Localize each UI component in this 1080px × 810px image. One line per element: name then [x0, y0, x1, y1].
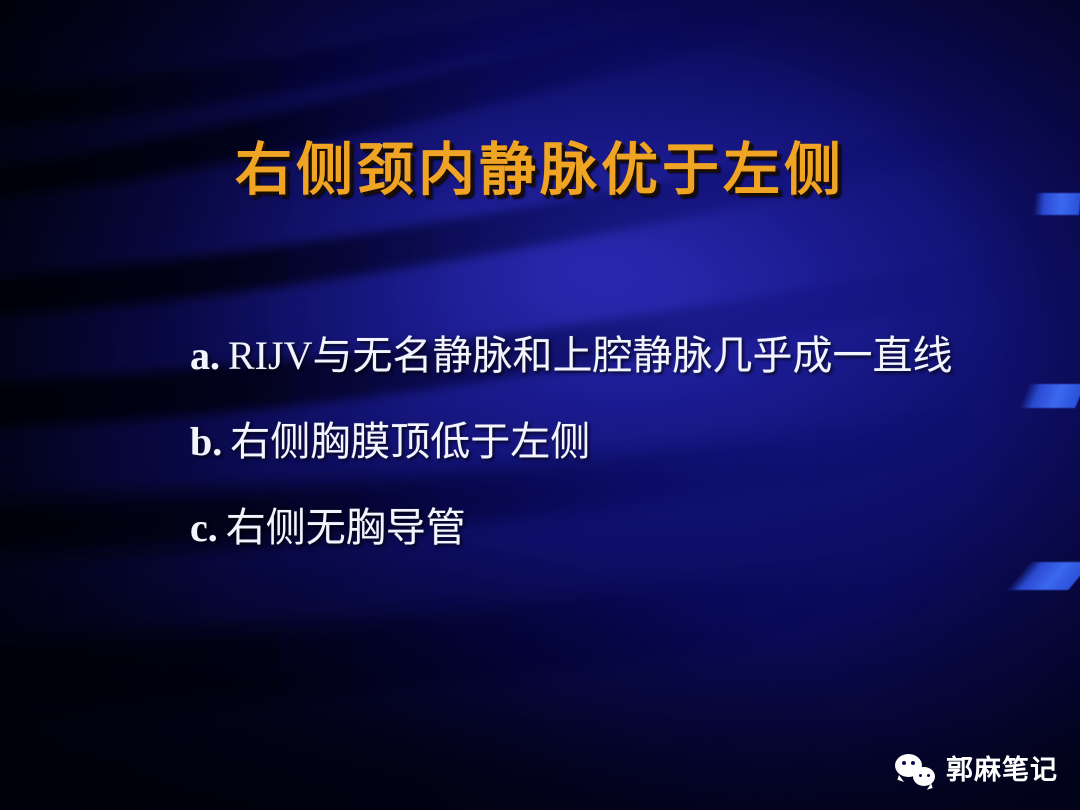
- list-item: b.右侧胸膜顶低于左侧: [190, 422, 1020, 462]
- list-item-text: RIJV与无名静脉和上腔静脉几乎成一直线: [228, 333, 952, 378]
- wechat-eye: [919, 774, 923, 778]
- list-item-text: 右侧胸膜顶低于左侧: [230, 419, 590, 464]
- wechat-eye: [927, 774, 931, 778]
- wechat-bubble-small: [913, 767, 935, 786]
- wechat-eye: [911, 761, 915, 765]
- presentation-slide: 右侧颈内静脉优于左侧 a.RIJV与无名静脉和上腔静脉几乎成一直线 b.右侧胸膜…: [0, 0, 1080, 810]
- list-item-text: 右侧无胸导管: [226, 505, 466, 550]
- slide-body-list: a.RIJV与无名静脉和上腔静脉几乎成一直线 b.右侧胸膜顶低于左侧 c.右侧无…: [190, 336, 1020, 594]
- list-item-marker: a.: [190, 333, 220, 378]
- list-item: a.RIJV与无名静脉和上腔静脉几乎成一直线: [190, 336, 1020, 376]
- watermark-label: 郭麻笔记: [946, 757, 1058, 784]
- wechat-eye: [902, 761, 906, 765]
- list-item-marker: b.: [190, 419, 222, 464]
- list-item-marker: c.: [190, 505, 218, 550]
- wechat-icon: [895, 754, 935, 786]
- list-item: c.右侧无胸导管: [190, 508, 1020, 548]
- slide-title: 右侧颈内静脉优于左侧: [0, 124, 1080, 206]
- watermark: 郭麻笔记: [895, 754, 1058, 786]
- accent-dash-2: [1019, 384, 1080, 408]
